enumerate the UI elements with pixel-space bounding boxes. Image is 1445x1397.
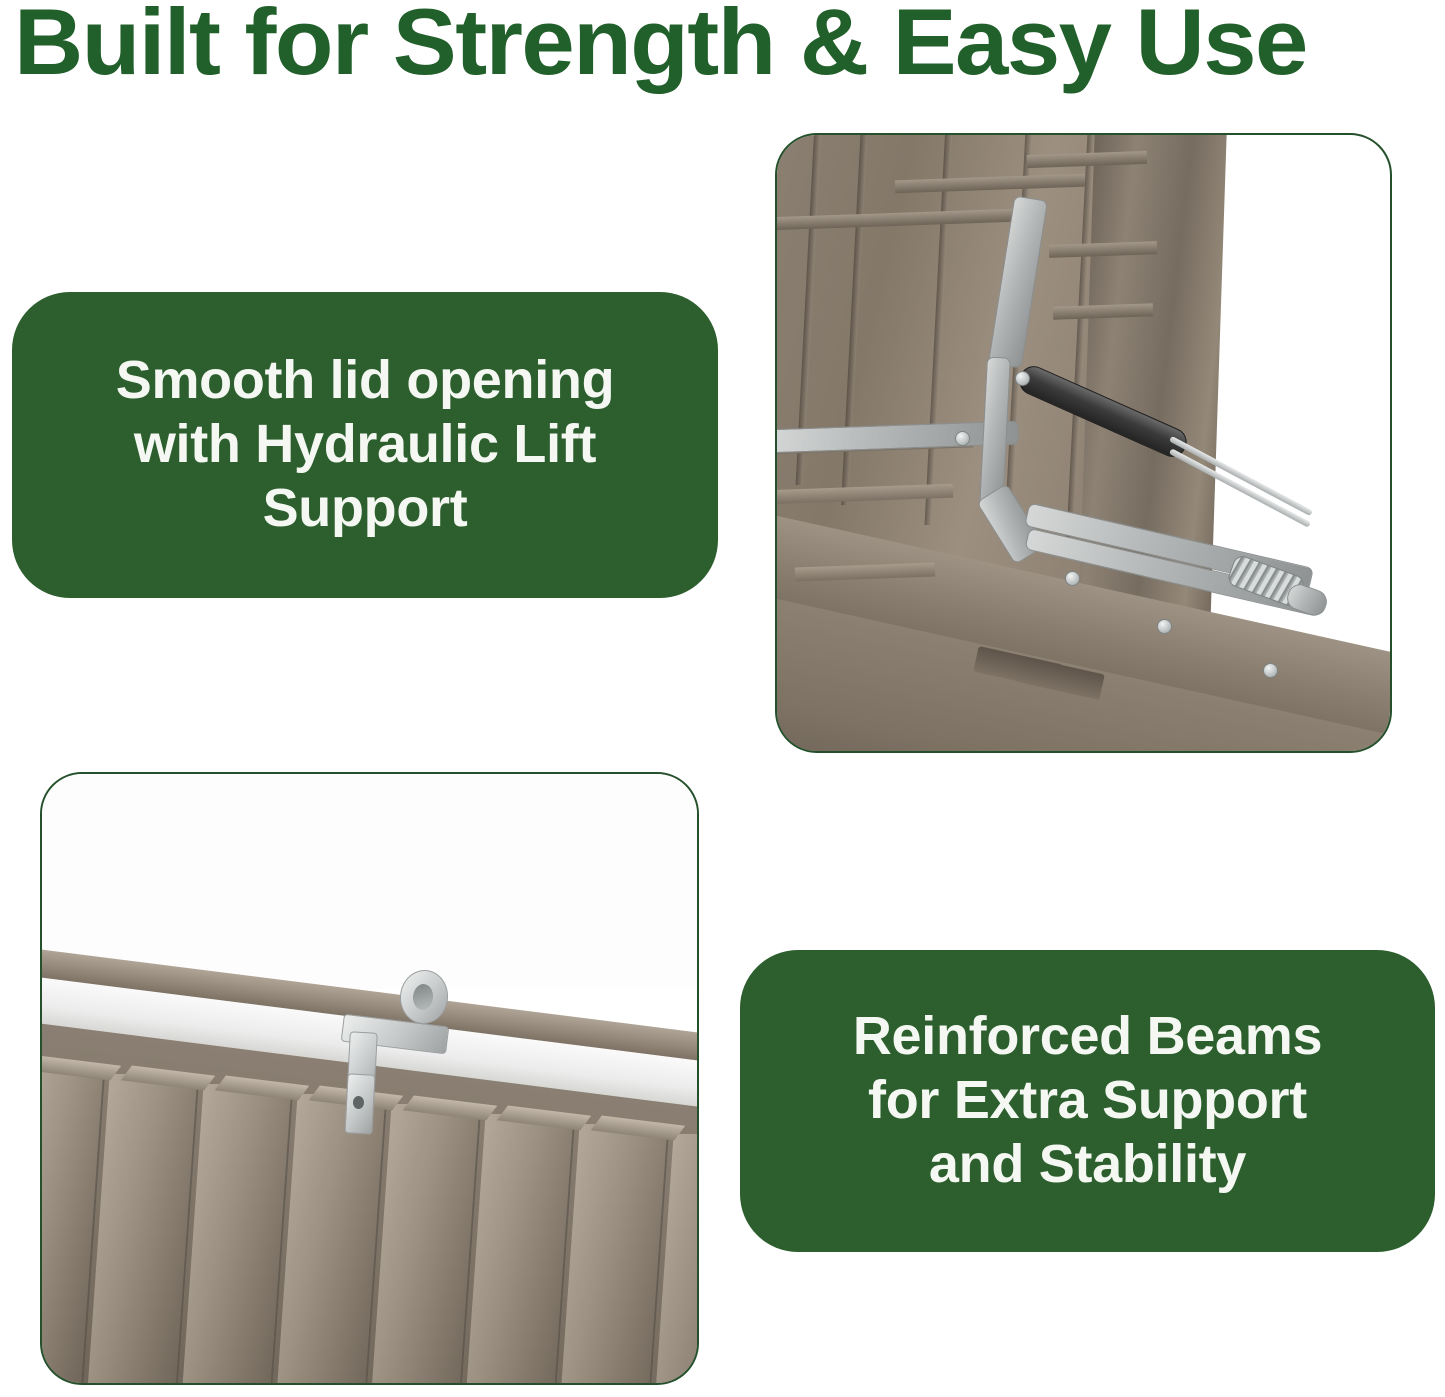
spring-end-fitting bbox=[1284, 581, 1330, 619]
bolt bbox=[1065, 571, 1080, 586]
bolt bbox=[1263, 663, 1278, 678]
photo-hydraulic-lift-support bbox=[775, 133, 1392, 753]
callout-hydraulic-text: Smooth lid opening with Hydraulic Lift S… bbox=[90, 349, 641, 540]
infographic-canvas: Built for Strength & Easy Use Smooth lid… bbox=[0, 0, 1445, 1397]
photo-beams-scene bbox=[42, 774, 697, 1383]
callout-reinforced-beams: Reinforced Beams for Extra Support and S… bbox=[740, 950, 1435, 1252]
bolt bbox=[1015, 371, 1030, 386]
page-title: Built for Strength & Easy Use bbox=[14, 0, 1445, 90]
bolt bbox=[1157, 619, 1172, 634]
photo-background bbox=[42, 774, 697, 989]
bolt bbox=[955, 431, 970, 446]
photo-reinforced-beams bbox=[40, 772, 699, 1385]
callout-beams-text: Reinforced Beams for Extra Support and S… bbox=[829, 1005, 1346, 1196]
bracket-screw-hole bbox=[353, 1096, 364, 1109]
callout-hydraulic-lift: Smooth lid opening with Hydraulic Lift S… bbox=[12, 292, 718, 598]
photo-hydraulic-scene bbox=[777, 135, 1390, 751]
